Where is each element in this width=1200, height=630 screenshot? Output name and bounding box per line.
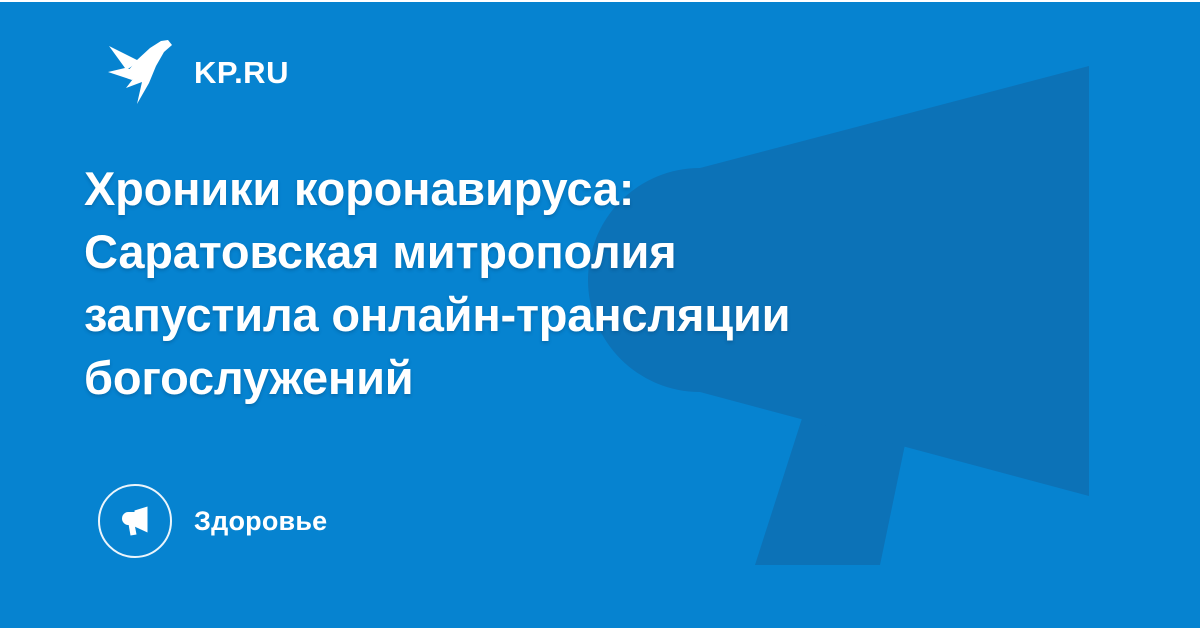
headline-line-2: Саратовская митрополия [84, 220, 1024, 283]
share-card: KP.RU Хроники коронавируса: Саратовская … [0, 0, 1200, 630]
category-badge[interactable]: Здоровье [98, 484, 327, 558]
megaphone-icon [98, 484, 172, 558]
brand-name: KP.RU [194, 57, 289, 88]
top-edge-strip [0, 0, 1200, 2]
brand-header[interactable]: KP.RU [106, 36, 289, 108]
swallow-bird-icon [106, 36, 178, 108]
headline-line-4: богослужений [84, 346, 1024, 409]
page-title: Хроники коронавируса: Саратовская митроп… [84, 157, 1024, 409]
headline-line-1: Хроники коронавируса: [84, 157, 1024, 220]
category-label: Здоровье [194, 508, 327, 535]
headline-line-3: запустила онлайн-трансляции [84, 283, 1024, 346]
